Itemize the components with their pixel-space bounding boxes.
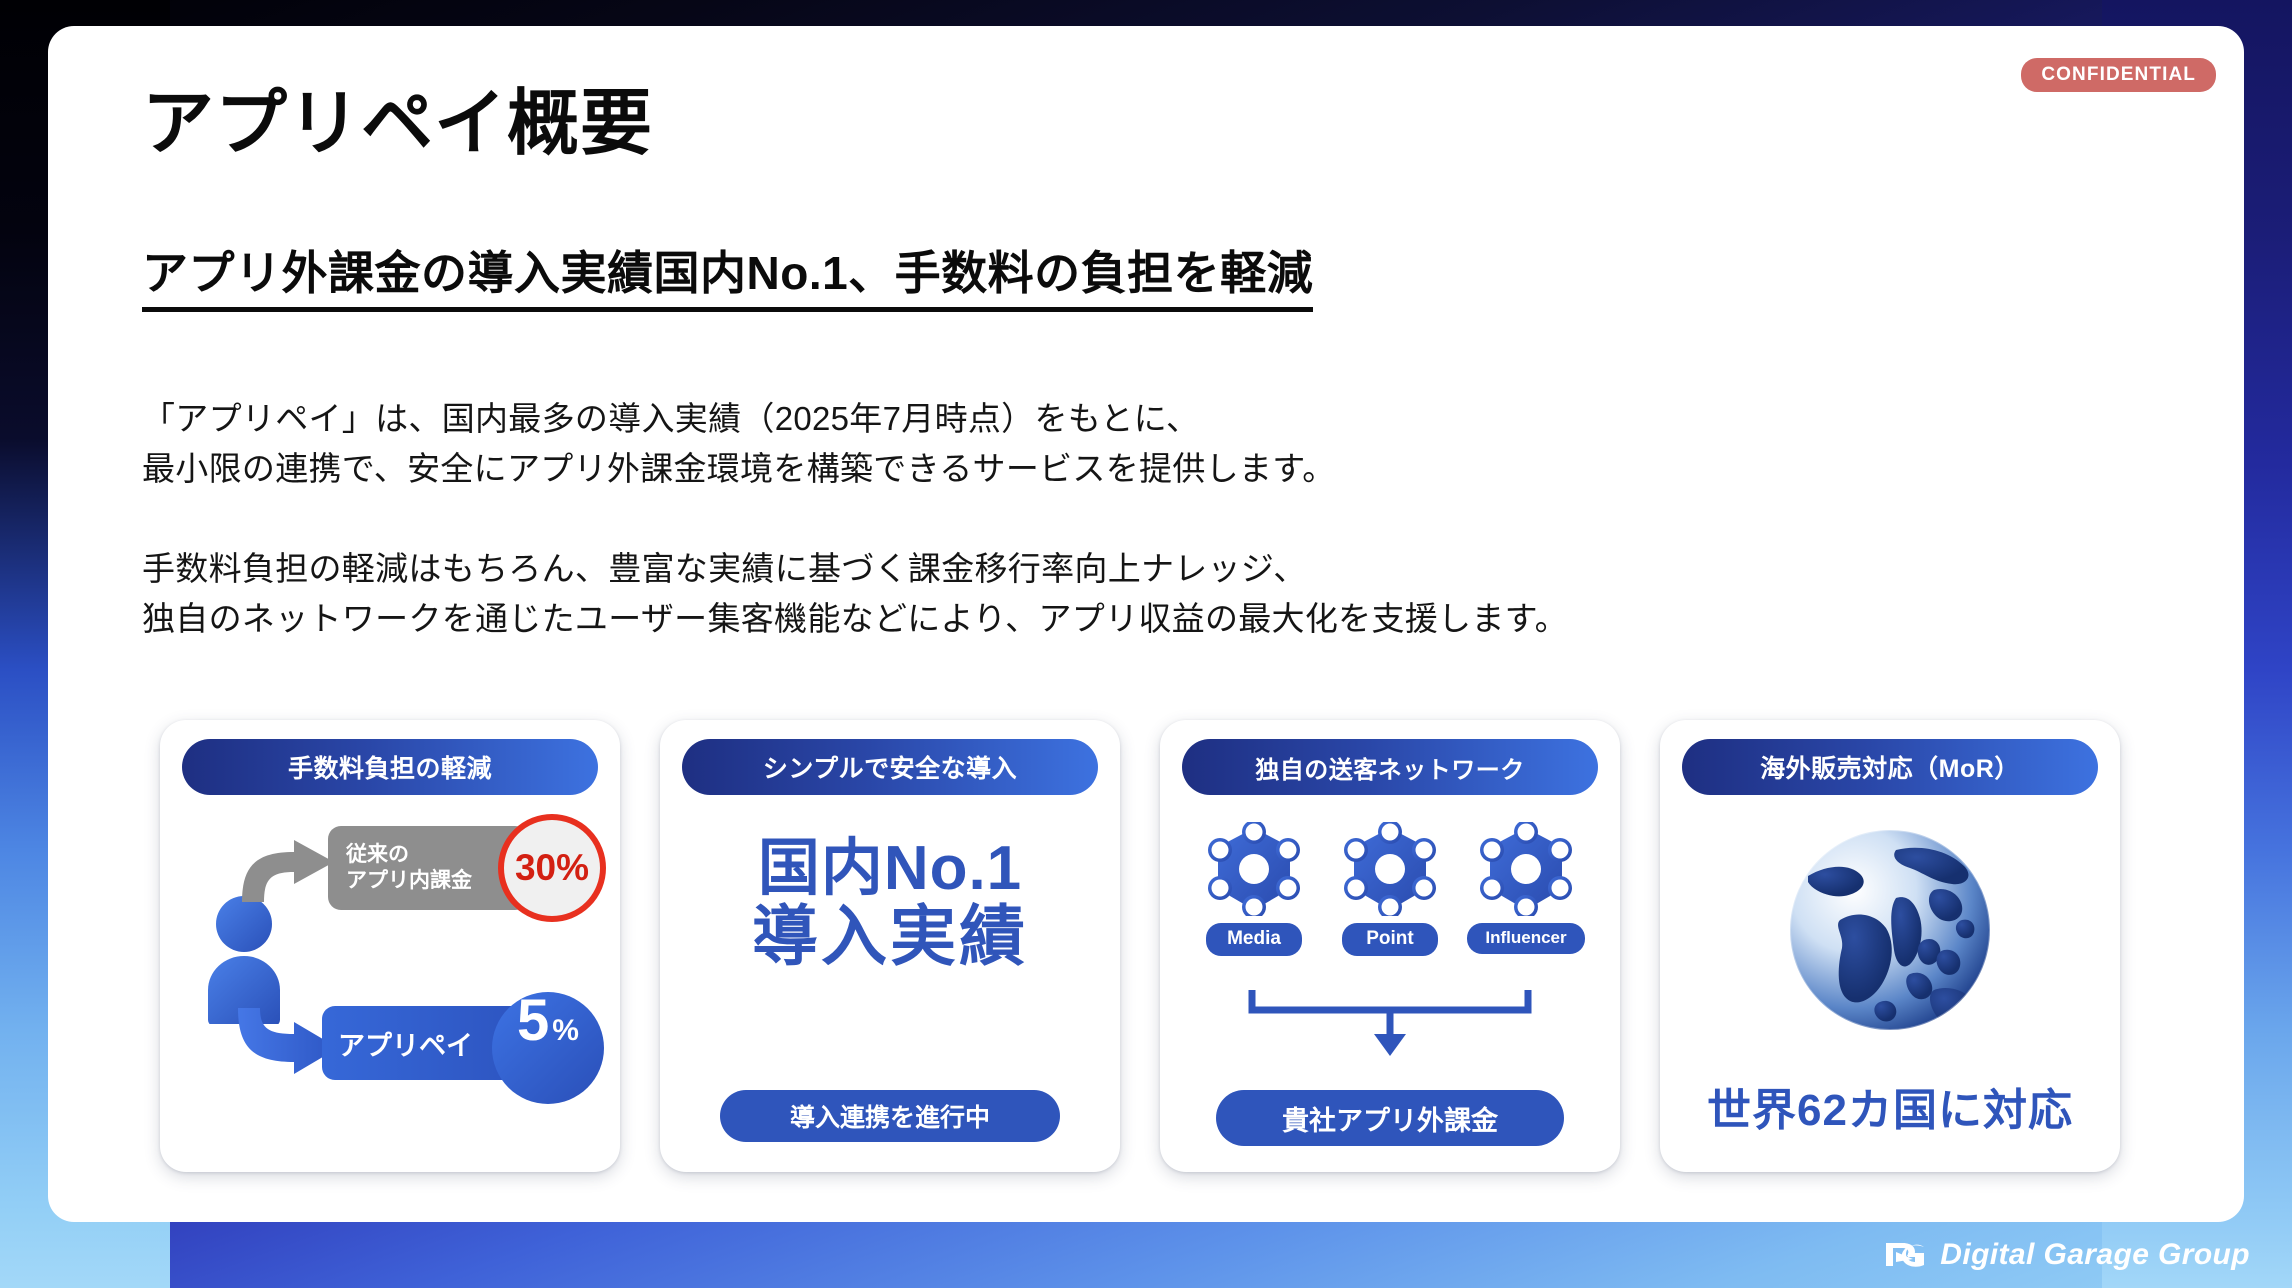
confidential-badge: CONFIDENTIAL [2021, 58, 2216, 92]
network-node-influencer-label: Influencer [1467, 923, 1585, 954]
body-paragraph-2-line-1: 手数料負担の軽減はもちろん、豊富な実績に基づく課金移行率向上ナレッジ、 [142, 544, 1568, 594]
no1-headline-line-2: 導入実績 [660, 902, 1120, 972]
legacy-fee-rate-badge: 30% [498, 814, 606, 922]
card-fee-reduction-diagram: 従来の アプリ内課金 30% アプリペイ 5% [160, 808, 620, 1172]
card-simple-safe-intro-header: シンプルで安全な導入 [682, 739, 1098, 795]
network-node-point-label: Point [1342, 923, 1438, 956]
card-traffic-network: 独自の送客ネットワーク Media [1160, 720, 1620, 1172]
slide-canvas: CONFIDENTIAL アプリペイ概要 アプリ外課金の導入実績国内No.1、手… [48, 26, 2244, 1222]
page-title: アプリペイ概要 [142, 88, 653, 160]
card-simple-safe-intro: シンプルで安全な導入 国内No.1 導入実績 導入連携を進行中 [660, 720, 1120, 1172]
card-fee-reduction: 手数料負担の軽減 [160, 720, 620, 1172]
integration-status-pill: 導入連携を進行中 [720, 1090, 1060, 1142]
no1-headline: 国内No.1 導入実績 [660, 836, 1120, 972]
network-converge-arrow-icon [1160, 988, 1620, 1060]
page-subtitle: アプリ外課金の導入実績国内No.1、手数料の負担を軽減 [142, 248, 1313, 312]
countries-supported-label: 世界62カ国に対応 [1660, 1074, 2120, 1138]
feature-card-row: 手数料負担の軽減 [160, 720, 2120, 1172]
network-node-media: Media [1193, 822, 1315, 956]
card-overseas-mor: 海外販売対応（MoR） [1660, 720, 2120, 1172]
body-paragraph-1-line-1: 「アプリペイ」は、国内最多の導入実績（2025年7月時点）をもとに、 [142, 394, 1336, 444]
apppay-fee-rate-unit: % [552, 1014, 579, 1048]
card-fee-reduction-header: 手数料負担の軽減 [182, 739, 598, 795]
network-node-influencer: Influencer [1465, 822, 1587, 956]
network-hub-icon [1478, 822, 1574, 916]
globe-illustration [1660, 824, 2120, 1036]
body-paragraph-1: 「アプリペイ」は、国内最多の導入実績（2025年7月時点）をもとに、 最小限の連… [142, 394, 1336, 494]
body-paragraph-2: 手数料負担の軽減はもちろん、豊富な実績に基づく課金移行率向上ナレッジ、 独自のネ… [142, 544, 1568, 644]
network-node-point: Point [1329, 822, 1451, 956]
body-paragraph-1-line-2: 最小限の連携で、安全にアプリ外課金環境を構築できるサービスを提供します。 [142, 444, 1336, 494]
globe-icon [1784, 824, 1996, 1036]
network-node-group: Media Point [1160, 822, 1620, 956]
network-node-media-label: Media [1206, 923, 1302, 956]
network-hub-icon [1342, 822, 1438, 916]
apppay-fee-rate-number: 5 [517, 992, 549, 1050]
body-paragraph-2-line-2: 独自のネットワークを通じたユーザー集客機能などにより、アプリ収益の最大化を支援し… [142, 594, 1568, 644]
network-hub-icon [1206, 822, 1302, 916]
no1-headline-line-1: 国内No.1 [660, 836, 1120, 902]
apppay-fee-rate-badge: 5% [492, 992, 604, 1104]
digital-garage-logo-icon [1883, 1238, 1927, 1272]
footer-brand: Digital Garage Group [1883, 1238, 2250, 1272]
footer-brand-text: Digital Garage Group [1940, 1238, 2250, 1272]
card-overseas-mor-header: 海外販売対応（MoR） [1682, 739, 2098, 795]
merchant-billing-pill: 貴社アプリ外課金 [1216, 1090, 1564, 1146]
card-traffic-network-header: 独自の送客ネットワーク [1182, 739, 1598, 795]
